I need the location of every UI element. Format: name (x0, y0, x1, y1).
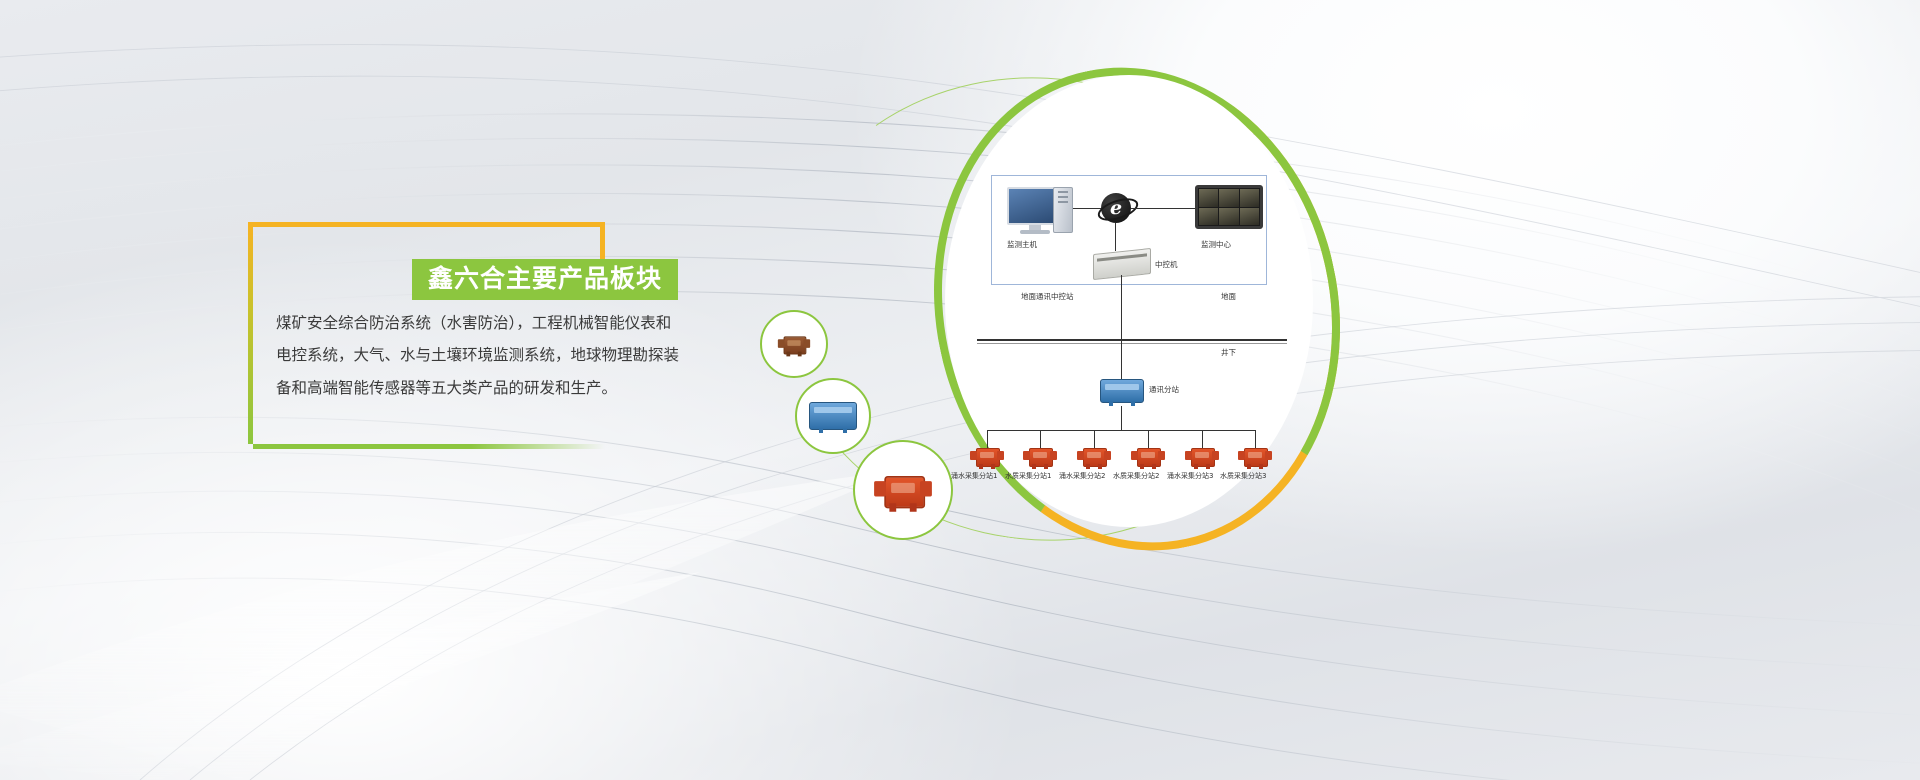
bus-branch-3 (1094, 430, 1095, 448)
label-underground: 井下 (1221, 349, 1236, 357)
brown-station-icon (778, 336, 810, 352)
bubble-device-blue (795, 378, 871, 454)
substation-graphic-1 (970, 448, 1004, 465)
substation-graphic-2 (1023, 448, 1057, 465)
blue-hub-icon (809, 402, 857, 430)
substation-graphic-3 (1077, 448, 1111, 465)
label-substation-5: 涌水采集分站3 (1167, 473, 1213, 480)
text-panel: 鑫六合主要产品板块 煤矿安全综合防治系统（水害防治），工程机械智能仪表和 电控系… (248, 222, 600, 444)
monitor-center-graphic (1195, 185, 1263, 229)
label-monitor-center: 监测中心 (1201, 241, 1231, 249)
bus-horizontal-line (987, 430, 1255, 431)
substation-graphic-6 (1238, 448, 1272, 465)
pc-tower-graphic (1053, 187, 1073, 233)
label-substation-4: 水质采集分站2 (1113, 473, 1159, 480)
bubble-device-brown (760, 310, 828, 378)
label-monitor-host: 监测主机 (1007, 241, 1037, 249)
page-title: 鑫六合主要产品板块 (428, 266, 662, 291)
bus-branch-5 (1202, 430, 1203, 448)
substation-graphic-5 (1185, 448, 1219, 465)
wire-host-to-internet (1073, 208, 1101, 209)
label-ground: 地面 (1221, 293, 1236, 301)
wire-internet-to-controller (1115, 223, 1116, 251)
description-line-1: 煤矿安全综合防治系统（水害防治），工程机械智能仪表和 (276, 315, 708, 331)
label-surface-comm-box: 地面通讯中控站 (1021, 293, 1074, 301)
bus-branch-2 (1040, 430, 1041, 448)
label-substation-3: 涌水采集分站2 (1059, 473, 1105, 480)
comm-substation-graphic (1100, 379, 1144, 403)
topology-canvas: 监测主机 e 监测中心 中控机 地面通讯中控站 地面 井下 (945, 75, 1313, 527)
bubble-device-red (853, 440, 953, 540)
red-station-icon (874, 476, 932, 505)
label-comm-substation: 通讯分站 (1149, 386, 1179, 394)
bus-branch-6 (1255, 430, 1256, 448)
label-substation-2: 水质采集分站1 (1005, 473, 1051, 480)
label-substation-1: 涌水采集分站1 (951, 473, 997, 480)
wire-controller-to-comm-substation (1121, 275, 1122, 379)
section-title-band: 鑫六合主要产品板块 (412, 259, 678, 300)
description-text: 煤矿安全综合防治系统（水害防治），工程机械智能仪表和 电控系统，大气、水与土壤环… (276, 315, 708, 412)
ground-divider-line (977, 339, 1287, 341)
description-line-3: 备和高端智能传感器等五大类产品的研发和生产。 (276, 380, 708, 396)
bus-drop-line (1121, 406, 1122, 430)
system-topology-illustration: 监测主机 e 监测中心 中控机 地面通讯中控站 地面 井下 (760, 48, 1360, 548)
wire-internet-to-center (1131, 208, 1195, 209)
label-central-controller: 中控机 (1155, 261, 1178, 269)
bus-branch-1 (987, 430, 988, 448)
substation-graphic-4 (1131, 448, 1165, 465)
internet-e-icon: e (1101, 193, 1131, 223)
bus-branch-4 (1148, 430, 1149, 448)
label-substation-6: 水质采集分站3 (1220, 473, 1266, 480)
description-line-2: 电控系统，大气、水与土壤环境监测系统，地球物理勘探装 (276, 347, 708, 363)
ground-divider-line-shadow (977, 343, 1287, 344)
